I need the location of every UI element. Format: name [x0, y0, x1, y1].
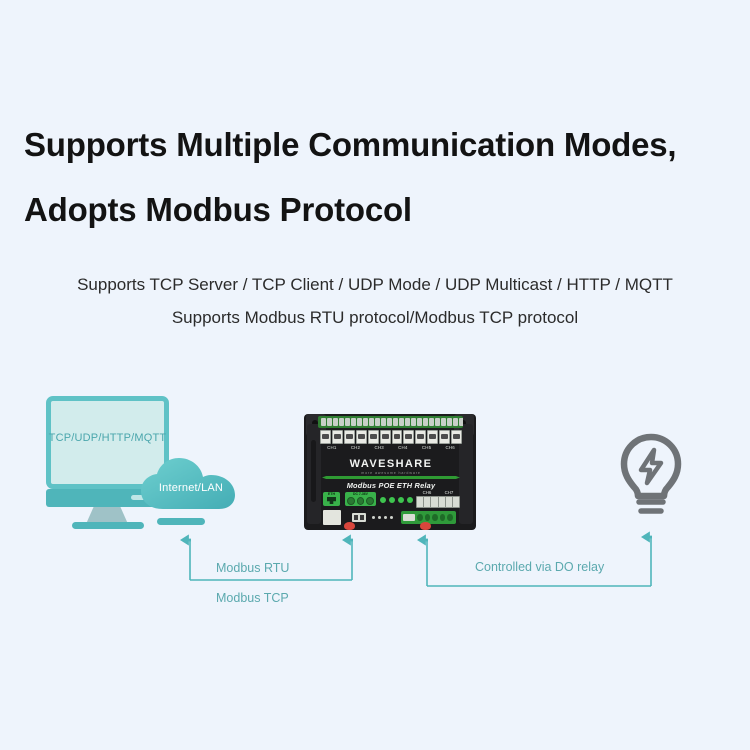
terminal-pin: [417, 418, 422, 426]
channel-label: CH1: [320, 445, 344, 450]
terminal-pin: [345, 418, 350, 426]
terminal-pin: [459, 418, 463, 426]
device-bottom-pins: [372, 516, 393, 519]
lightbulb-illustration: [616, 433, 686, 519]
relay-block: [380, 430, 391, 444]
terminal-pin: [363, 418, 368, 426]
power-terminal-label: DC 7-36V: [345, 492, 376, 496]
relay-block: [320, 430, 331, 444]
monitor-stand-foot: [72, 522, 144, 529]
device-side-rail-left: [307, 424, 321, 524]
ethernet-icon: [327, 497, 336, 504]
terminal-pin: [387, 418, 392, 426]
device-usb-port: [323, 510, 341, 525]
connection-label-modbus-rtu: Modbus RTU: [216, 561, 289, 575]
relay-block: [427, 430, 438, 444]
monitor-screen-label: TCP/UDP/HTTP/MQTT: [46, 432, 169, 444]
channel-label: CH7: [438, 490, 460, 495]
device-side-slot: [311, 440, 316, 502]
terminal-holes: [417, 514, 453, 521]
terminal-pin: [447, 418, 452, 426]
terminal-pin: [405, 418, 410, 426]
terminal-pin: [339, 418, 344, 426]
terminal-pin: [327, 418, 332, 426]
relay-block: [439, 430, 450, 444]
terminal-tag: [403, 514, 415, 521]
terminal-pin: [375, 418, 380, 426]
channel-label: CH3: [367, 445, 391, 450]
power-terminal-screws: [347, 497, 374, 505]
device-relay-block-row: [320, 430, 462, 444]
device-bottom-right-terminal: [416, 496, 460, 508]
device-top-channel-labels: CH1CH2CH3CH4CH5CH6: [320, 445, 462, 450]
channel-label: CH5: [415, 445, 439, 450]
device-model-label: Modbus POE ETH Relay: [324, 481, 458, 490]
terminal-pin: [411, 418, 416, 426]
indicator-red-right: [420, 522, 431, 530]
cloud-base-bar: [157, 518, 205, 525]
relay-block: [392, 430, 403, 444]
indicator-red-left: [344, 522, 355, 530]
connection-label-do-relay: Controlled via DO relay: [475, 560, 604, 574]
connection-label-modbus-tcp: Modbus TCP: [216, 591, 289, 605]
terminal-pin: [369, 418, 374, 426]
terminal-pin: [435, 418, 440, 426]
terminal-pin: [393, 418, 398, 426]
terminal-pin: [423, 418, 428, 426]
relay-block: [451, 430, 462, 444]
brand-tagline: more awesome hardware: [324, 470, 458, 476]
terminal-pin: [357, 418, 362, 426]
device-dip-switch: [352, 513, 366, 522]
relay-block: [356, 430, 367, 444]
relay-device: CH1CH2CH3CH4CH5CH6 WAVESHARE more awesom…: [304, 410, 476, 530]
channel-label: CH6: [438, 445, 462, 450]
brand-accent-bar: [322, 476, 460, 479]
connection-lines: [0, 0, 750, 750]
channel-label: CH6: [416, 490, 438, 495]
brand-name: WAVESHARE: [324, 458, 458, 470]
terminal-pin: [453, 418, 458, 426]
terminal-pin: [429, 418, 434, 426]
channel-label: CH2: [344, 445, 368, 450]
terminal-pin: [381, 418, 386, 426]
cloud-label: Internet/LAN: [139, 482, 243, 494]
relay-block: [368, 430, 379, 444]
relay-block: [415, 430, 426, 444]
device-top-terminal-strip: [318, 416, 463, 428]
terminal-pin: [399, 418, 404, 426]
lightbulb-lightning-icon: [616, 433, 686, 519]
power-terminal: DC 7-36V: [345, 492, 376, 506]
channel-label: CH4: [391, 445, 415, 450]
relay-block: [332, 430, 343, 444]
status-leds: [380, 497, 413, 503]
relay-block: [403, 430, 414, 444]
device-brand: WAVESHARE more awesome hardware: [324, 458, 458, 476]
architecture-diagram: TCP/UDP/HTTP/MQTT Internet/LAN: [0, 0, 750, 750]
device-bottom-channel-labels: CH6CH7: [416, 490, 460, 495]
terminal-pin: [351, 418, 356, 426]
terminal-pin: [321, 418, 326, 426]
ethernet-port-label: ETH: [323, 492, 340, 496]
terminal-pin: [333, 418, 338, 426]
cloud-illustration: Internet/LAN: [139, 457, 243, 513]
ethernet-port: ETH: [323, 492, 340, 506]
promo-banner: Supports Multiple Communication Modes, A…: [0, 0, 750, 750]
relay-block: [344, 430, 355, 444]
terminal-pin: [441, 418, 446, 426]
